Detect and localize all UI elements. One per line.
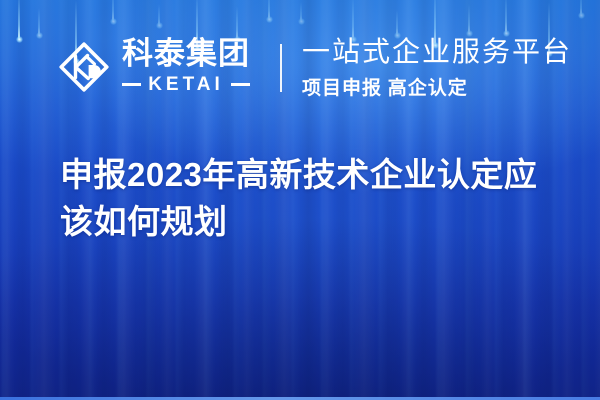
brand-text: 科泰集团 KETAI [122, 38, 250, 96]
brand-dash-right [231, 83, 250, 86]
header-divider [280, 44, 282, 92]
promo-banner: 科泰集团 KETAI 一站式企业服务平台 项目申报 高企认定 申报2023年高新… [0, 0, 600, 400]
banner-header: 科泰集团 KETAI 一站式企业服务平台 项目申报 高企认定 [0, 0, 600, 140]
tagline-sub: 项目申报 高企认定 [302, 73, 572, 100]
brand-name-en: KETAI [148, 74, 224, 96]
tagline-block: 一站式企业服务平台 项目申报 高企认定 [302, 36, 572, 100]
brand-lockup: 科泰集团 KETAI [58, 38, 250, 96]
brand-name-en-row: KETAI [122, 74, 250, 96]
tagline-main: 一站式企业服务平台 [302, 36, 572, 68]
brand-name-cn: 科泰集团 [122, 38, 250, 71]
ketai-diamond-kd-logo-icon [58, 41, 110, 93]
banner-headline: 申报2023年高新技术企业认定应该如何规划 [60, 152, 570, 246]
brand-dash-left [122, 83, 141, 86]
